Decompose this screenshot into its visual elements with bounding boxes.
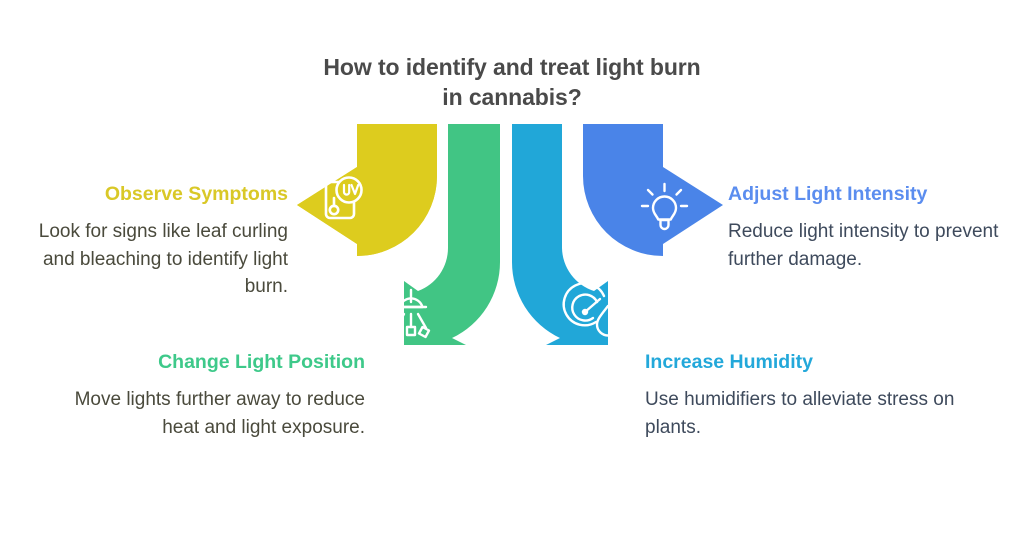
step-adjust-light-intensity: Adjust Light Intensity Reduce light inte… [728, 182, 1018, 273]
step-body-adjust-light-intensity: Reduce light intensity to prevent furthe… [728, 218, 1018, 273]
step-heading-change-light-position: Change Light Position [60, 350, 365, 374]
step-body-increase-humidity: Use humidifiers to alleviate stress on p… [645, 386, 955, 441]
arrow-observe-symptoms-shape [297, 124, 437, 256]
step-heading-adjust-light-intensity: Adjust Light Intensity [728, 182, 1018, 206]
step-heading-increase-humidity: Increase Humidity [645, 350, 955, 374]
step-heading-observe-symptoms: Observe Symptoms [8, 182, 288, 206]
arrow-adjust-light-intensity-shape [583, 124, 723, 256]
step-increase-humidity: Increase Humidity Use humidifiers to all… [645, 350, 955, 441]
step-change-light-position: Change Light Position Move lights furthe… [60, 350, 365, 441]
infographic-root: How to identify and treat light burn in … [0, 0, 1024, 534]
step-observe-symptoms: Observe Symptoms Look for signs like lea… [8, 182, 288, 301]
step-body-change-light-position: Move lights further away to reduce heat … [60, 386, 365, 441]
step-body-observe-symptoms: Look for signs like leaf curling and ble… [8, 218, 288, 301]
